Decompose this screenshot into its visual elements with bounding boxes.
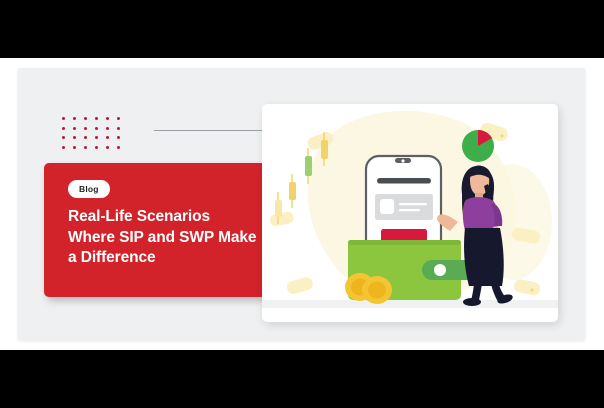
divider-rule [154,130,273,131]
pie-chart-icon [462,130,494,162]
ground-band-icon [262,300,558,308]
page-title: Real-Life Scenarios Where SIP and SWP Ma… [68,207,290,269]
page-title-line-3: a Difference [68,248,290,269]
page-title-line-2: Where SIP and SWP Make [68,228,290,249]
status-badge: Blog [68,180,110,198]
illustration-graphic [262,104,558,322]
page-title-line-1: Real-Life Scenarios [68,207,290,228]
page-canvas: Blog Real-Life Scenarios Where SIP and S… [0,58,604,350]
banner-card: Blog Real-Life Scenarios Where SIP and S… [18,68,585,340]
screenshot-stage: Blog Real-Life Scenarios Where SIP and S… [0,0,604,408]
dot-grid-icon [58,114,124,152]
illustration-panel [262,104,558,322]
